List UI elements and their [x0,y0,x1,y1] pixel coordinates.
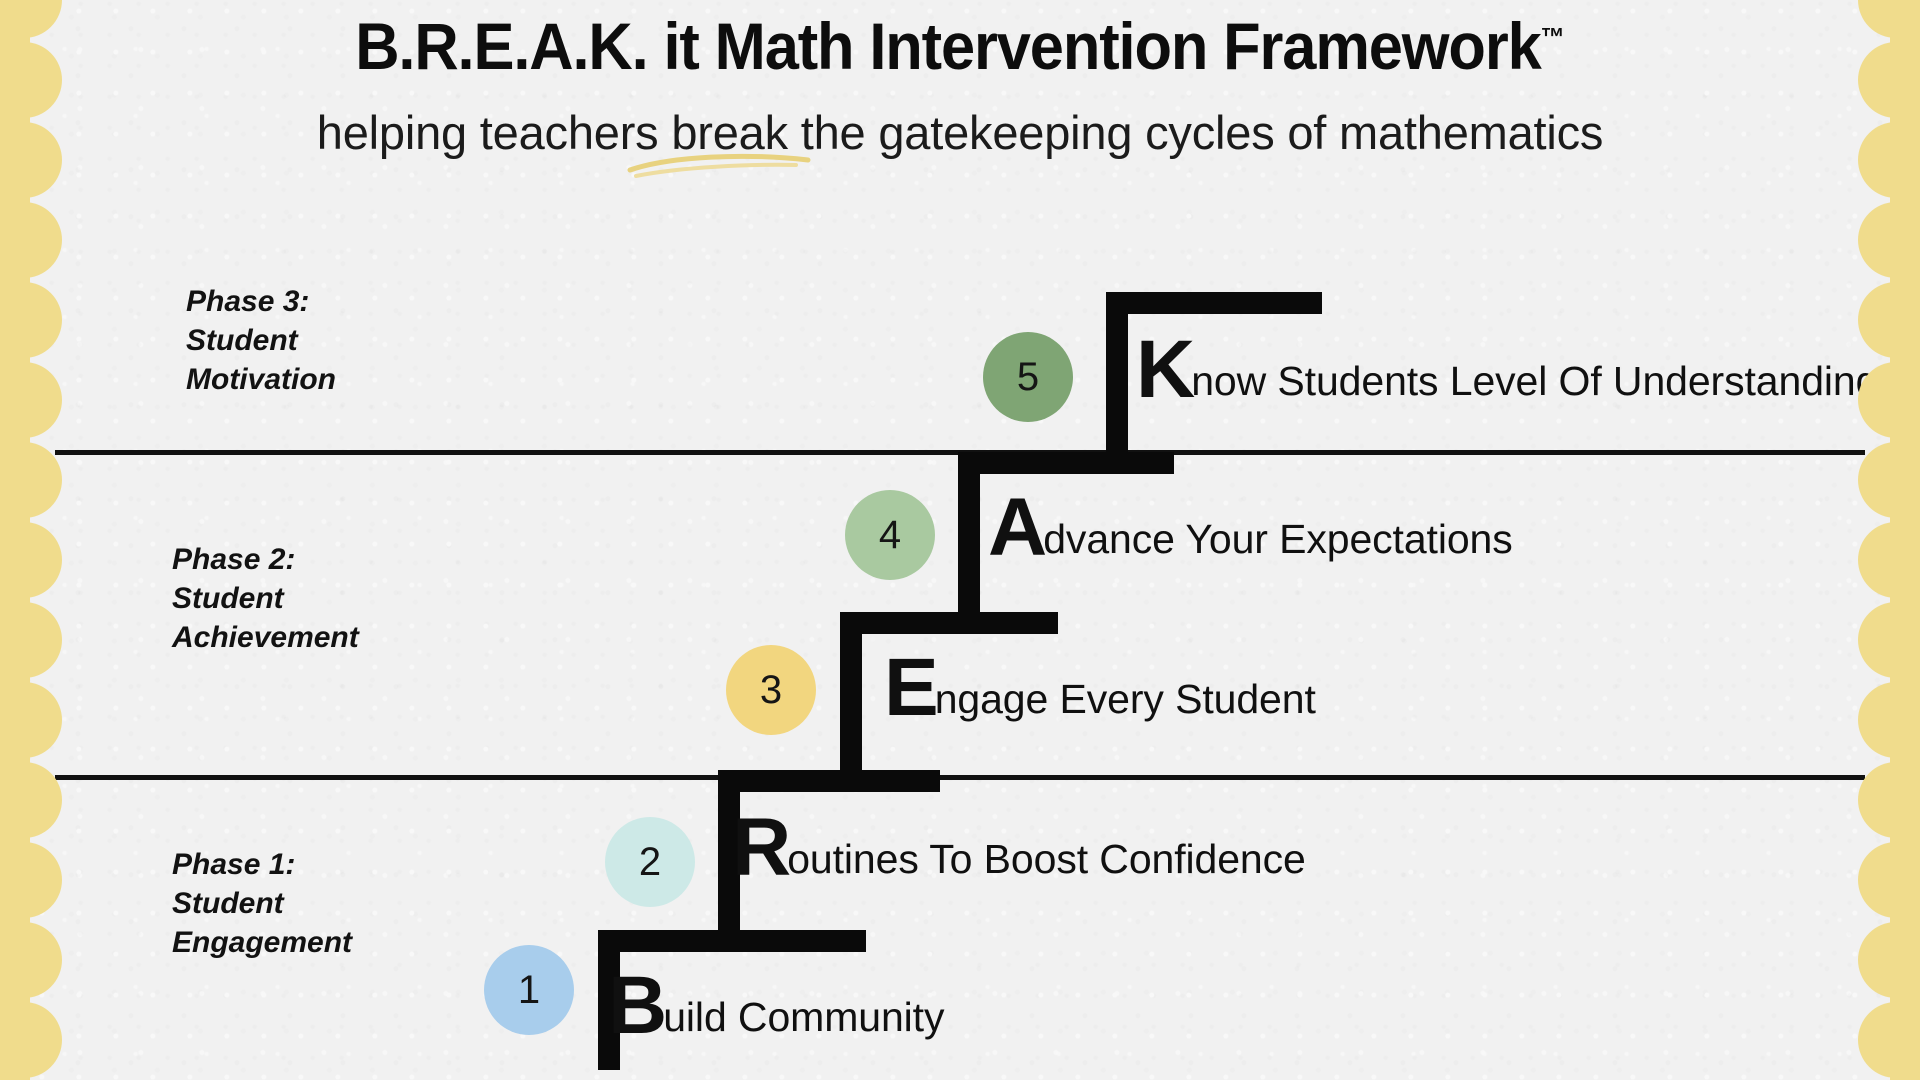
step-number-1: 1 [518,968,540,1013]
page-title: B.R.E.A.K. it Math Intervention Framewor… [67,8,1853,84]
step-bracket-5-top [1106,292,1322,314]
step-label-2: R outines To Boost Confidence [732,812,1306,884]
step-bracket-3-top [840,612,1058,634]
step-initial-1: B [608,970,665,1042]
step-number-3: 3 [760,668,782,713]
phase-label-1: Phase 1: Student Engagement [172,845,352,962]
step-rest-5: now Students Level Of Understanding [1191,361,1878,402]
step-bracket-4-top [958,452,1174,474]
step-bracket-4-riser [958,452,980,632]
step-initial-2: R [732,812,789,884]
step-number-circle-5: 5 [983,332,1073,422]
phase-divider-lower [55,775,1865,780]
infographic-canvas: B.R.E.A.K. it Math Intervention Framewor… [0,0,1920,1080]
step-number-circle-2: 2 [605,817,695,907]
step-initial-5: K [1136,334,1193,406]
step-number-circle-4: 4 [845,490,935,580]
step-label-5: K now Students Level Of Understanding [1136,334,1878,406]
step-rest-4: dvance Your Expectations [1043,519,1512,560]
step-bracket-2-tread [718,930,866,952]
step-number-circle-1: 1 [484,945,574,1035]
page-subtitle: helping teachers break the gatekeeping c… [0,105,1920,160]
step-initial-4: A [988,492,1045,564]
scalloped-border-right [1856,0,1920,1080]
step-rest-1: uild Community [663,997,944,1038]
step-initial-3: E [884,652,937,724]
step-rest-3: ngage Every Student [935,679,1316,720]
step-number-4: 4 [879,513,901,558]
step-rest-2: outines To Boost Confidence [787,839,1306,880]
trademark-symbol: ™ [1541,22,1565,52]
step-number-circle-3: 3 [726,645,816,735]
step-label-3: E ngage Every Student [884,652,1316,724]
phase-label-3: Phase 3: Student Motivation [186,282,336,399]
step-number-2: 2 [639,840,661,885]
step-bracket-5-riser [1106,292,1128,472]
step-label-4: A dvance Your Expectations [988,492,1513,564]
scalloped-border-left [0,0,64,1080]
step-number-5: 5 [1017,355,1039,400]
step-bracket-3-riser [840,612,862,792]
step-bracket-2-top [718,770,940,792]
page-title-text: B.R.E.A.K. it Math Intervention Framewor… [355,9,1540,83]
step-label-1: B uild Community [608,970,944,1042]
phase-label-2: Phase 2: Student Achievement [172,540,359,657]
